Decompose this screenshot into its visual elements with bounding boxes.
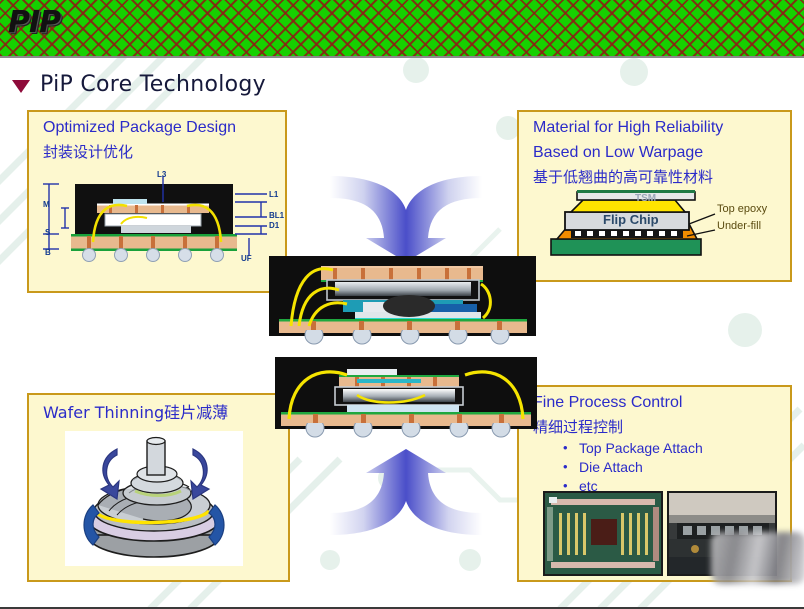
- card-fine-process-control[interactable]: Fine Process Control 精细过程控制 Top Package …: [517, 385, 792, 582]
- diagram-label-under-fill: Under-fill: [717, 220, 761, 232]
- solder-ball-row-top: [269, 330, 536, 348]
- substrate-with-die-photo[interactable]: [543, 491, 663, 576]
- card-title-wafer-thinning: Wafer Thinning硅片减薄: [29, 395, 288, 422]
- arrow-down-converging-icon: [330, 172, 482, 262]
- dim-label-m: M: [43, 200, 50, 209]
- diagram-label-flip-chip: Flip Chip: [603, 212, 659, 227]
- dim-label-b: B: [45, 248, 51, 257]
- bullet-die-attach: Die Attach: [563, 458, 790, 477]
- pip-package-cross-section-bottom: [275, 357, 537, 429]
- process-bullet-list: Top Package Attach Die Attach etc: [563, 439, 790, 496]
- card-title-en-line1: Material for High Reliability: [519, 112, 790, 137]
- redaction-blur-patch: [711, 532, 804, 584]
- card-optimized-package-design[interactable]: Optimized Package Design 封装设计优化: [27, 110, 287, 293]
- page-title: PiP Core Technology: [12, 72, 266, 97]
- page-title-text: PiP Core Technology: [40, 72, 266, 97]
- card-title-cn: 封装设计优化: [29, 137, 285, 162]
- dim-label-uf: UF: [241, 254, 252, 263]
- pip-package-cross-section-top: [269, 256, 536, 336]
- card-title-cn: 精细过程控制: [519, 412, 790, 437]
- card-title-en-line2: Based on Low Warpage: [519, 137, 790, 162]
- card-title-en: Optimized Package Design: [29, 112, 285, 137]
- diagram-label-top-epoxy: Top epoxy: [717, 203, 767, 215]
- arrow-up-converging-icon: [330, 443, 482, 539]
- card-title-en: Fine Process Control: [519, 387, 790, 412]
- card-material-high-reliability[interactable]: Material for High Reliability Based on L…: [517, 110, 792, 282]
- pip-logo: PIP: [8, 5, 60, 40]
- header-band: [0, 0, 804, 58]
- dim-label-l1: L1: [269, 190, 278, 199]
- dim-label-l3: L3: [157, 170, 166, 179]
- diagram-package-cross-section-dimensions: M S B L3 L1 BL1 D1 UF: [35, 172, 281, 267]
- diagram-label-tsm: TSM: [635, 193, 656, 204]
- dim-label-d1: D1: [269, 221, 279, 230]
- solder-ball-row-bottom: [275, 423, 537, 441]
- triangle-down-icon: [12, 80, 30, 93]
- dim-label-s: S: [45, 228, 50, 237]
- dim-label-bl1: BL1: [269, 211, 284, 220]
- diagram-flip-chip-stack: TSM Flip Chip Top epoxy Under-fill: [537, 184, 782, 264]
- bullet-top-package-attach: Top Package Attach: [563, 439, 790, 458]
- diagram-wafer-grinder: [65, 431, 243, 566]
- slide-canvas: PIP PiP Core Technology Optimized Packag…: [0, 0, 804, 609]
- card-wafer-thinning[interactable]: Wafer Thinning硅片减薄: [27, 393, 290, 582]
